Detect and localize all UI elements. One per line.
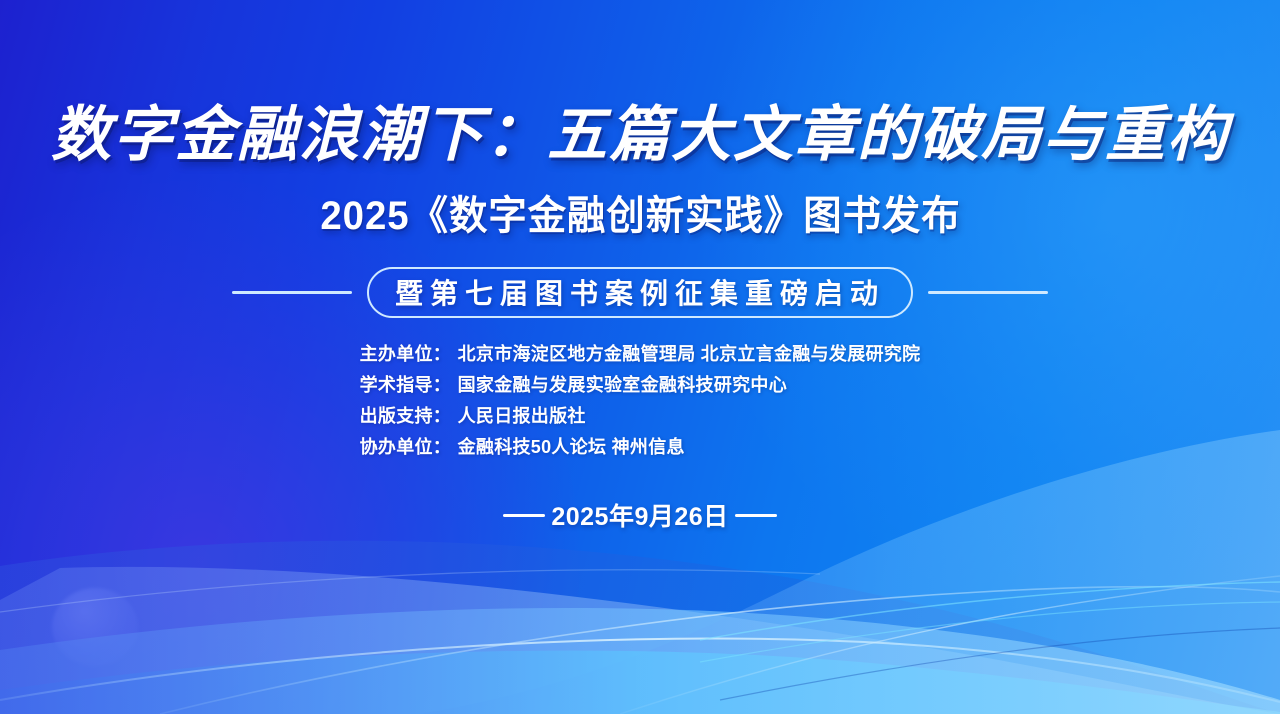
- event-poster: 数字金融浪潮下：五篇大文章的破局与重构 2025《数字金融创新实践》图书发布 暨…: [0, 0, 1280, 714]
- date-rule-right: [735, 514, 777, 517]
- info-line-host: 主办单位： 北京市海淀区地方金融管理局 北京立言金融与发展研究院: [360, 340, 921, 366]
- banner-rule-left: [232, 291, 352, 294]
- date-row: 2025年9月26日: [503, 497, 776, 533]
- info-label-publisher: 出版支持：: [360, 402, 458, 428]
- organizer-info-block: 主办单位： 北京市海淀区地方金融管理局 北京立言金融与发展研究院 学术指导： 国…: [360, 340, 921, 459]
- banner-rule-right: [928, 291, 1048, 294]
- info-value-host: 北京市海淀区地方金融管理局 北京立言金融与发展研究院: [458, 340, 921, 366]
- page-subtitle: 2025《数字金融创新实践》图书发布: [320, 183, 960, 241]
- info-label-coorganizer: 协办单位：: [360, 433, 458, 459]
- info-label-host: 主办单位：: [360, 340, 458, 366]
- poster-content: 数字金融浪潮下：五篇大文章的破局与重构 2025《数字金融创新实践》图书发布 暨…: [0, 0, 1280, 714]
- banner-pill: 暨第七届图书案例征集重磅启动: [367, 267, 913, 318]
- event-date: 2025年9月26日: [551, 497, 728, 533]
- info-line-coorganizer: 协办单位： 金融科技50人论坛 神州信息: [360, 433, 685, 459]
- info-value-coorganizer: 金融科技50人论坛 神州信息: [458, 433, 685, 459]
- banner-row: 暨第七届图书案例征集重磅启动: [232, 267, 1048, 318]
- date-rule-left: [503, 514, 545, 517]
- info-line-academic: 学术指导： 国家金融与发展实验室金融科技研究中心: [360, 371, 787, 397]
- info-label-academic: 学术指导：: [360, 371, 458, 397]
- page-title: 数字金融浪潮下：五篇大文章的破局与重构: [51, 104, 1229, 167]
- info-line-publisher: 出版支持： 人民日报出版社: [360, 402, 586, 428]
- info-value-publisher: 人民日报出版社: [458, 402, 586, 428]
- info-value-academic: 国家金融与发展实验室金融科技研究中心: [458, 371, 787, 397]
- banner-label: 暨第七届图书案例征集重磅启动: [395, 272, 885, 312]
